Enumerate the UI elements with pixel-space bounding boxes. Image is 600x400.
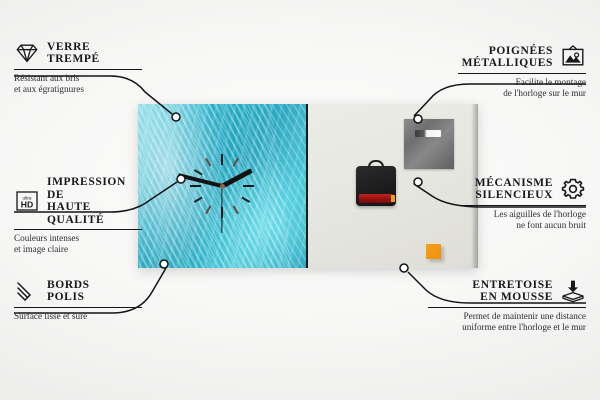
callout-subtitle: Facilite le montage de l'horloge sur le …: [458, 77, 586, 99]
callout-mecanisme-silencieux: MÉCANISME SILENCIEUX Les aiguilles de l'…: [458, 176, 586, 231]
clock-front-panel: [138, 104, 308, 268]
metal-hanger-plate: [404, 119, 454, 169]
callout-subtitle: Les aiguilles de l'horloge ne font aucun…: [458, 209, 586, 231]
callout-subtitle: Surface lisse et sûre: [14, 311, 142, 322]
diamond-icon: [14, 40, 40, 66]
svg-text:HD: HD: [21, 200, 33, 210]
callout-rule: [458, 73, 586, 74]
clock-center-cap: [220, 184, 225, 189]
movement-hanging-loop: [368, 160, 384, 169]
callout-bords-polis: BORDS POLIS Surface lisse et sûre: [14, 278, 142, 322]
battery: [359, 194, 393, 203]
callout-title: BORDS POLIS: [47, 279, 90, 304]
callout-subtitle: Couleurs intenses et image claire: [14, 233, 142, 255]
callout-rule: [14, 229, 142, 230]
callout-header: BORDS POLIS: [14, 278, 142, 304]
callout-rule: [14, 307, 142, 308]
hanger-slot: [415, 130, 441, 137]
callout-title: MÉCANISME SILENCIEUX: [475, 177, 553, 202]
press-down-foam-icon: [560, 278, 586, 304]
callout-header: ENTRETOISE EN MOUSSE: [428, 278, 586, 304]
callout-title: ENTRETOISE EN MOUSSE: [472, 279, 553, 304]
callout-rule: [14, 69, 142, 70]
callout-subtitle: Permet de maintenir une distance uniform…: [428, 311, 586, 333]
callout-impression-haute-qualite: ultra HD IMPRESSION DE HAUTE QUALITÉ Cou…: [14, 176, 142, 255]
callout-rule: [428, 307, 586, 308]
infographic-stage: VERRE TREMPÉ Résistant aux bris et aux é…: [0, 0, 600, 400]
callout-verre-trempe: VERRE TREMPÉ Résistant aux bris et aux é…: [14, 40, 142, 95]
callout-rule: [458, 205, 586, 206]
callout-header: VERRE TREMPÉ: [14, 40, 142, 66]
callout-poignees-metalliques: POIGNÉES MÉTALLIQUES Facilite le montage…: [458, 44, 586, 99]
callout-header: MÉCANISME SILENCIEUX: [458, 176, 586, 202]
clock-back-panel: [308, 104, 478, 268]
ultra-hd-icon: ultra HD: [14, 188, 40, 214]
quartz-movement: [356, 166, 396, 206]
callout-title: POIGNÉES MÉTALLIQUES: [462, 45, 553, 70]
callout-title: IMPRESSION DE HAUTE QUALITÉ: [47, 176, 142, 226]
gear-icon: [560, 176, 586, 202]
polished-edges-icon: [14, 278, 40, 304]
picture-frame-hook-icon: [560, 44, 586, 70]
foam-spacer: [426, 244, 441, 259]
callout-entretoise-en-mousse: ENTRETOISE EN MOUSSE Permet de maintenir…: [428, 278, 586, 333]
callout-title: VERRE TREMPÉ: [47, 41, 100, 66]
callout-header: POIGNÉES MÉTALLIQUES: [458, 44, 586, 70]
battery-terminal: [391, 195, 395, 202]
callout-header: ultra HD IMPRESSION DE HAUTE QUALITÉ: [14, 176, 142, 226]
product-image: [138, 104, 478, 268]
callout-subtitle: Résistant aux bris et aux égratignures: [14, 73, 142, 95]
clock-dial: [138, 104, 306, 268]
